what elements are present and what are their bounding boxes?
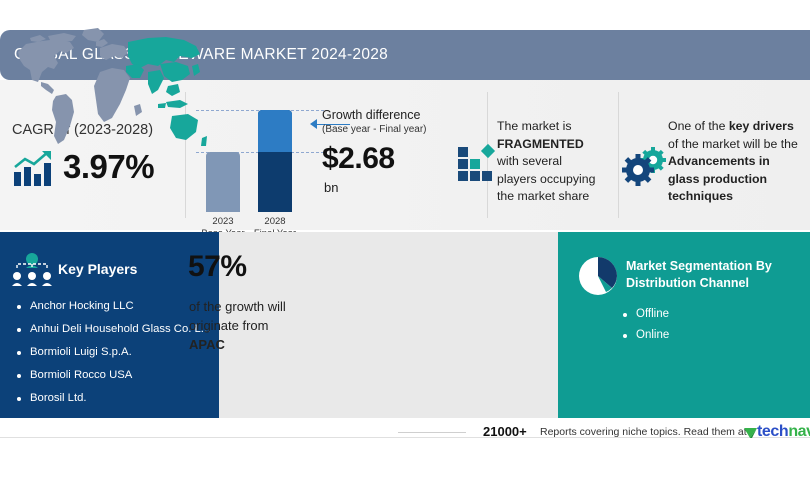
growth-arrow-head-icon <box>310 119 317 129</box>
paper-plane-icon <box>744 426 757 439</box>
infographic-canvas: GLOBAL GLASS TABLEWARE MARKET 2024-2028 … <box>0 0 810 480</box>
drivers-line1a: One of the <box>668 119 729 133</box>
technavio-logo[interactable]: technavi <box>744 423 810 443</box>
growth-difference-title: Growth difference <box>322 108 420 122</box>
fragmented-line1: The market is <box>497 119 571 133</box>
drivers-line5: techniques <box>668 189 733 203</box>
fragmented-line3: with several <box>497 154 562 168</box>
apac-region: APAC <box>189 337 225 352</box>
bar-2028 <box>258 110 292 212</box>
world-map <box>8 22 208 162</box>
logo-text-navio: navi <box>788 423 810 441</box>
org-network-icon <box>10 252 54 290</box>
list-item: Online <box>620 325 669 346</box>
list-item: Offline <box>620 304 669 325</box>
fragmented-line2: FRAGMENTED <box>497 137 584 151</box>
apac-line1: of the growth will <box>189 299 286 314</box>
bar-2023 <box>206 152 240 212</box>
fragmented-line4: players occupying <box>497 172 595 186</box>
growth-bar-chart: 2023 Base Year 2028 Final Year <box>196 100 324 220</box>
gears-icon <box>622 146 670 186</box>
drivers-line2: of the market will be the <box>668 137 798 151</box>
list-item: Borosil Ltd. <box>14 387 219 410</box>
apac-description: of the growth will originate from APAC <box>189 297 329 354</box>
growth-difference-unit: bn <box>324 180 338 195</box>
bar-2028-growth-segment <box>258 110 292 152</box>
key-drivers-text: One of the key drivers of the market wil… <box>668 118 810 206</box>
market-segmentation-title: Market Segmentation By Distribution Chan… <box>626 258 806 291</box>
report-count: 21000+ <box>483 424 527 439</box>
market-segmentation-panel: Market Segmentation By Distribution Chan… <box>558 232 810 418</box>
bar-2023-year: 2023 <box>193 216 253 228</box>
growth-difference-value: $2.68 <box>322 142 395 176</box>
pie-chart-icon <box>576 254 620 298</box>
growth-difference-subtitle: (Base year - Final year) <box>322 124 426 135</box>
footer-tagline: Reports covering niche topics. Read them… <box>540 426 747 438</box>
drivers-line1b: key drivers <box>729 119 794 133</box>
drivers-line4: glass production <box>668 172 767 186</box>
fragmented-line5: the market share <box>497 189 589 203</box>
bar-2028-year: 2028 <box>245 216 305 228</box>
segmentation-list: Offline Online <box>620 304 669 346</box>
fragmented-squares-icon <box>457 142 501 182</box>
drivers-line3: Advancements in <box>668 154 770 168</box>
apac-percentage: 57% <box>188 250 247 284</box>
key-players-title: Key Players <box>58 261 137 277</box>
footer-lead-line <box>398 432 466 433</box>
apac-line2: originate from <box>189 318 268 333</box>
list-item: Bormioli Rocco USA <box>14 364 219 387</box>
fragmented-text: The market is FRAGMENTED with several pl… <box>497 118 619 206</box>
logo-text-tech: tech <box>757 423 788 441</box>
